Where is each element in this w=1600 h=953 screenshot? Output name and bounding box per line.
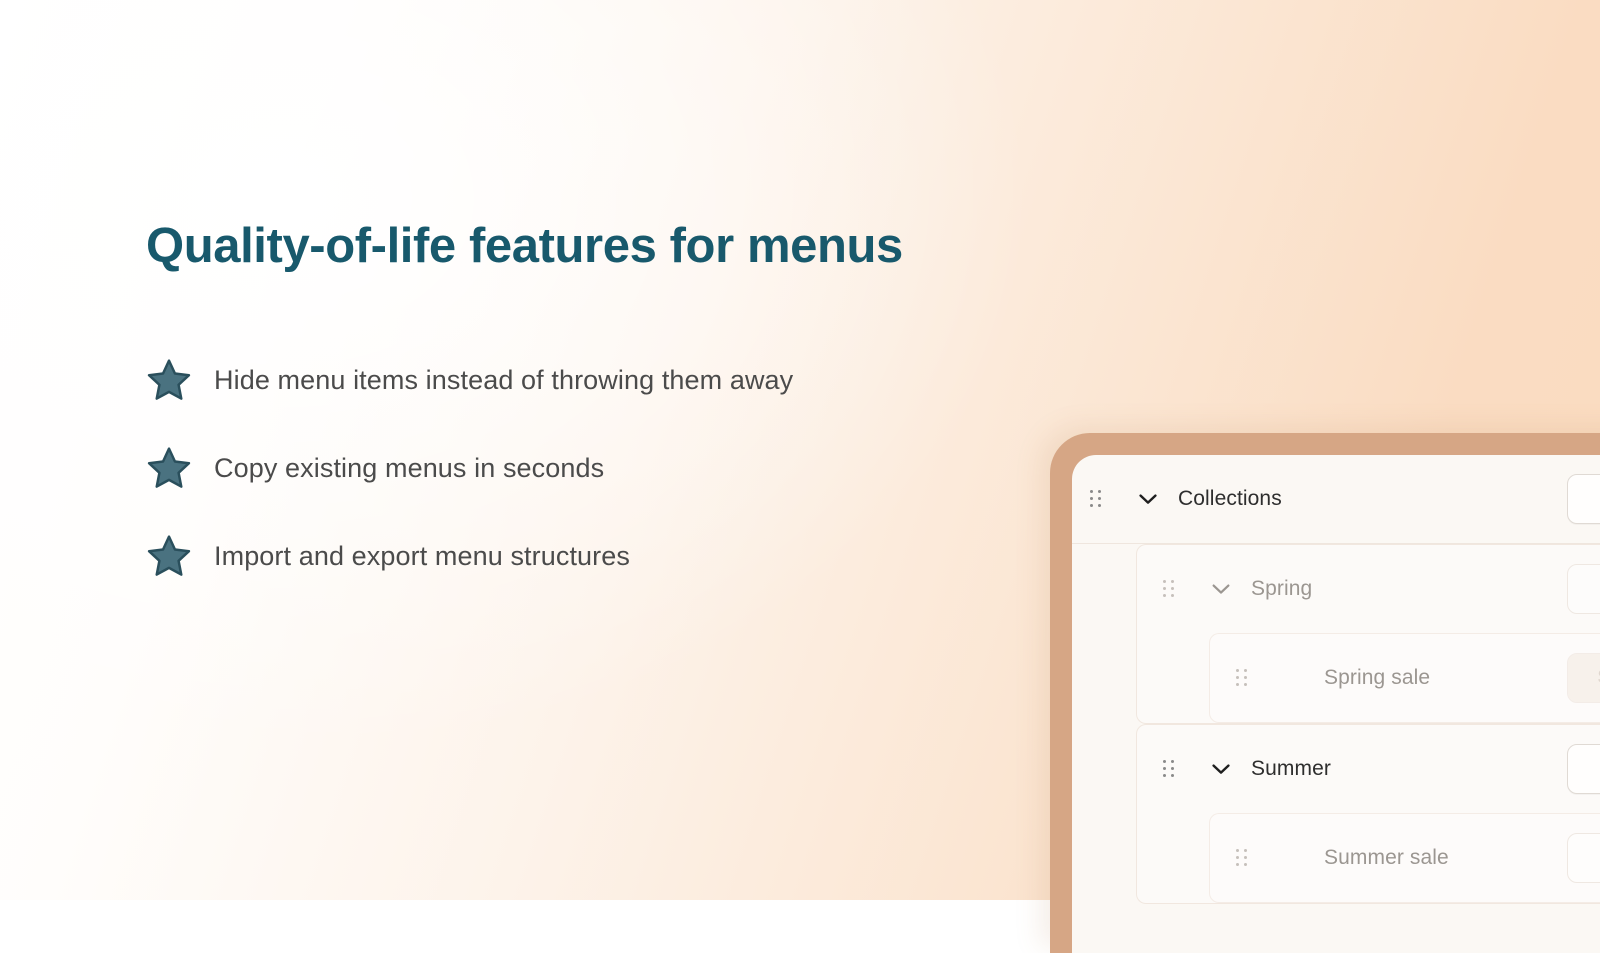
list-item: Copy existing menus in seconds (146, 440, 1046, 496)
visibility-split-button[interactable]: Hide (1567, 744, 1600, 794)
menu-group-summer: Summer Hide (1136, 724, 1600, 904)
feature-text: Import and export menu structures (214, 541, 630, 572)
chevron-down-icon[interactable] (1209, 757, 1233, 781)
visibility-split-button[interactable]: Hide (1567, 474, 1600, 524)
list-item: Import and export menu structures (146, 528, 1046, 584)
visibility-toggle-button[interactable]: Show (1568, 654, 1600, 702)
hero-content: Quality-of-life features for menus Hide … (0, 0, 1060, 900)
menu-row-summer-sale[interactable]: Summer sale Show (1210, 814, 1600, 902)
menu-row-summer[interactable]: Summer Hide (1137, 725, 1600, 813)
visibility-split-button[interactable]: Show (1567, 833, 1600, 883)
drag-handle-icon[interactable] (1236, 669, 1248, 687)
menu-tree: Collections Hide (1072, 455, 1600, 904)
drag-handle-icon[interactable] (1163, 580, 1175, 598)
drag-handle-icon[interactable] (1236, 849, 1248, 867)
visibility-toggle-button[interactable]: Show (1568, 834, 1600, 882)
star-icon (146, 357, 192, 403)
menu-group-spring-sale: Spring sale Show (1209, 633, 1600, 723)
feature-text: Copy existing menus in seconds (214, 453, 604, 484)
drag-handle-icon[interactable] (1090, 490, 1102, 508)
menu-group-spring: Spring Show (1136, 544, 1600, 724)
menu-item-label: Summer (1251, 757, 1331, 781)
chevron-down-icon[interactable] (1209, 577, 1233, 601)
visibility-toggle-button[interactable]: Hide (1568, 475, 1600, 523)
menu-row-collections[interactable]: Collections Hide (1072, 455, 1600, 543)
page-title: Quality-of-life features for menus (146, 219, 903, 274)
visibility-split-button[interactable]: Show (1567, 564, 1600, 614)
menu-row-spring[interactable]: Spring Show (1137, 545, 1600, 633)
feature-list: Hide menu items instead of throwing them… (146, 352, 1046, 616)
menu-item-label: Summer sale (1324, 846, 1449, 870)
star-icon (146, 445, 192, 491)
device-frame: Collections Hide (1050, 433, 1600, 953)
menu-group-summer-sale: Summer sale Show (1209, 813, 1600, 903)
visibility-toggle-button[interactable]: Hide (1568, 745, 1600, 793)
menu-editor-panel: Collections Hide (1072, 455, 1600, 953)
visibility-split-button[interactable]: Show (1567, 653, 1600, 703)
star-icon (146, 533, 192, 579)
menu-item-label: Spring (1251, 577, 1312, 601)
menu-item-label: Spring sale (1324, 666, 1430, 690)
drag-handle-icon[interactable] (1163, 760, 1175, 778)
menu-row-spring-sale[interactable]: Spring sale Show (1210, 634, 1600, 722)
feature-text: Hide menu items instead of throwing them… (214, 365, 793, 396)
visibility-toggle-button[interactable]: Show (1568, 565, 1600, 613)
menu-item-label: Collections (1178, 487, 1282, 511)
list-item: Hide menu items instead of throwing them… (146, 352, 1046, 408)
chevron-down-icon[interactable] (1136, 487, 1160, 511)
